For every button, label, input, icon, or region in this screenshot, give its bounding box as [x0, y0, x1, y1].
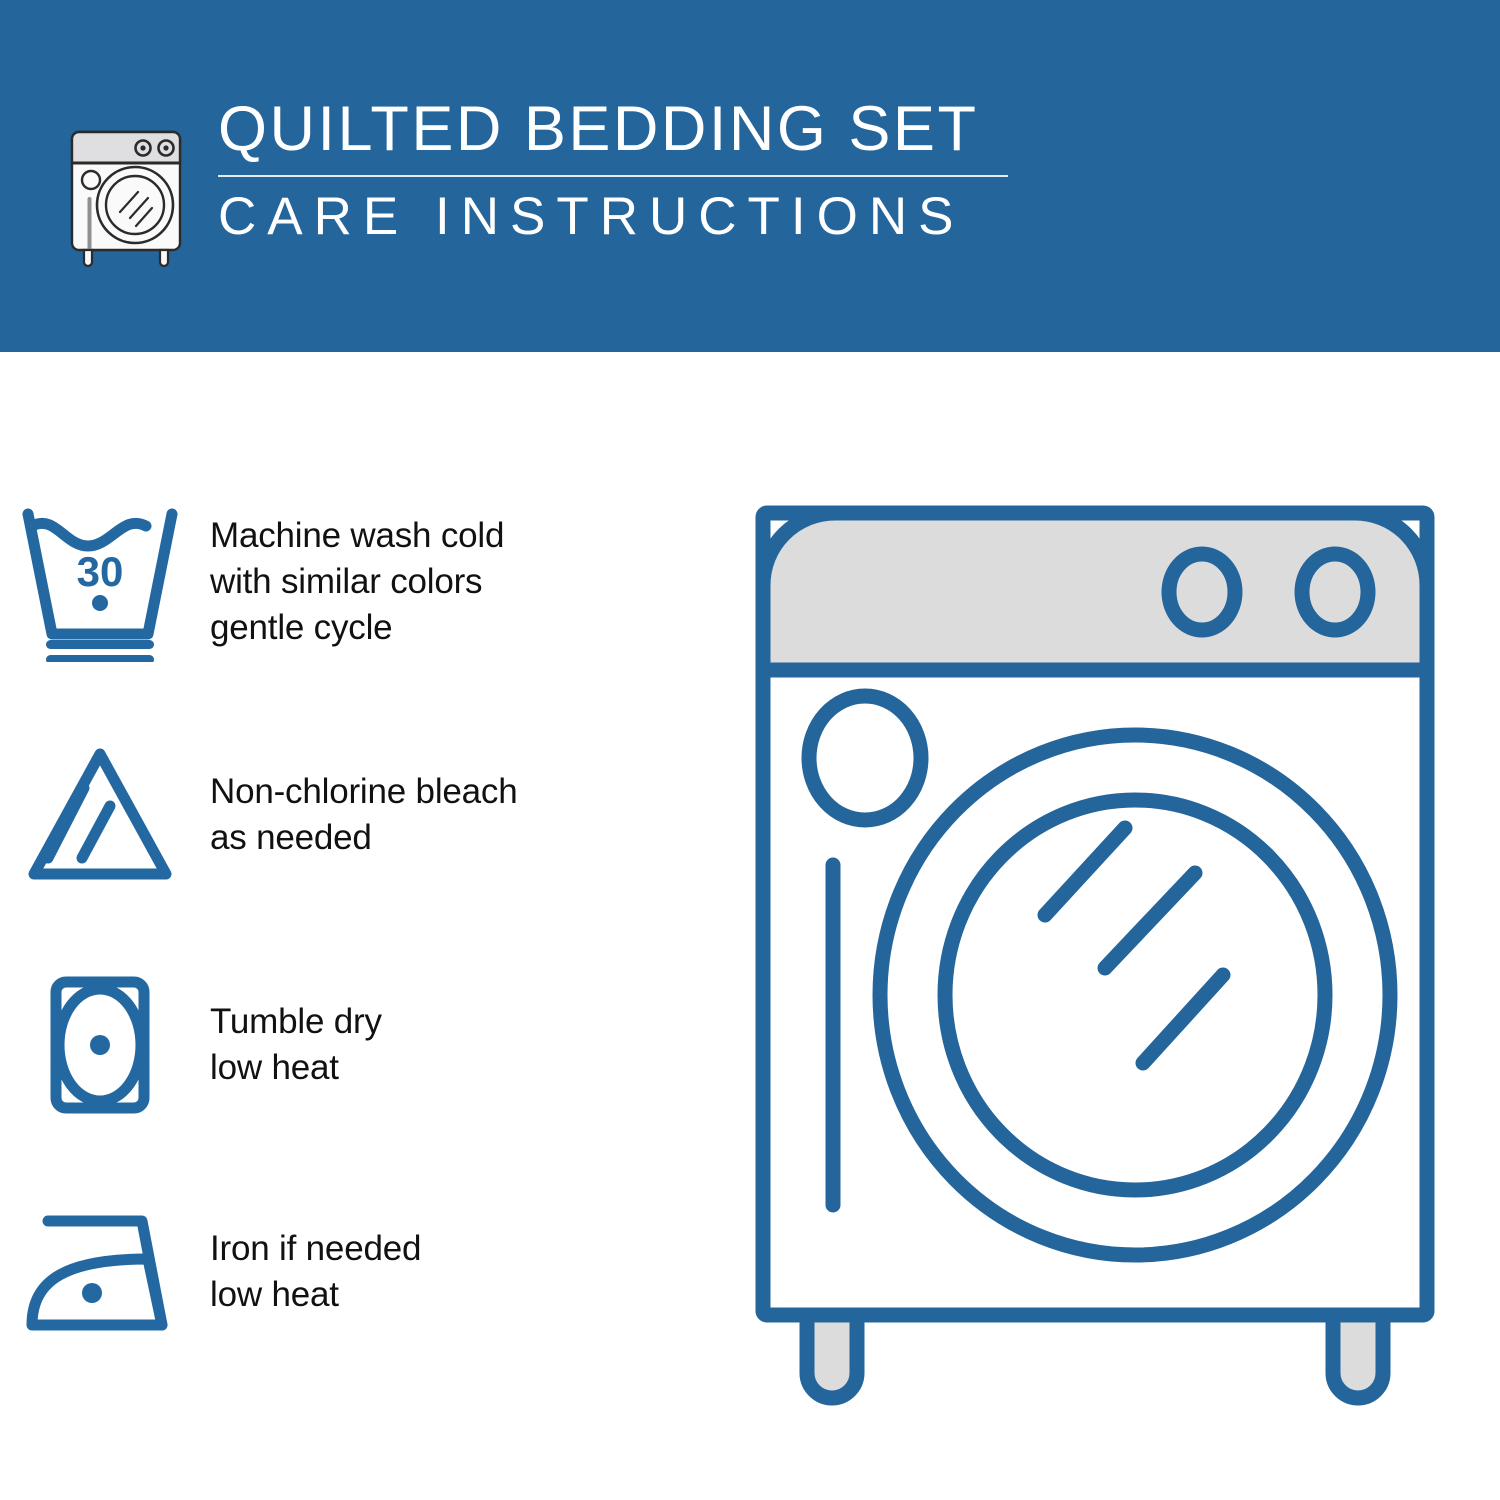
care-text-machine-wash: Machine wash cold with similar colors ge… — [200, 513, 504, 652]
care-text-tumble-dry: Tumble dry low heat — [200, 999, 382, 1091]
title-divider — [218, 175, 1008, 177]
care-row-bleach: Non-chlorine bleach as needed — [0, 740, 720, 890]
care-instructions-page: QUILTED BEDDING SET CARE INSTRUCTIONS 30 — [0, 0, 1500, 1500]
page-subtitle: CARE INSTRUCTIONS — [218, 189, 1018, 245]
care-row-iron: Iron if needed low heat — [0, 1197, 720, 1347]
care-text-iron: Iron if needed low heat — [200, 1226, 421, 1318]
care-row-machine-wash: 30 Machine wash cold with similar colors… — [0, 502, 720, 662]
washing-machine-illustration — [745, 495, 1445, 1415]
iron-low-heat-icon — [0, 1197, 200, 1347]
triangle-non-chlorine-bleach-icon — [0, 740, 200, 890]
care-text-bleach: Non-chlorine bleach as needed — [200, 769, 518, 861]
page-title: QUILTED BEDDING SET — [218, 96, 1018, 162]
care-instruction-list: 30 Machine wash cold with similar colors… — [0, 352, 720, 1500]
header-text-block: QUILTED BEDDING SET CARE INSTRUCTIONS — [218, 96, 1018, 245]
tumble-dry-low-heat-icon — [0, 970, 200, 1120]
washing-machine-icon — [62, 104, 190, 269]
svg-text:30: 30 — [77, 548, 124, 595]
care-row-tumble-dry: Tumble dry low heat — [0, 970, 720, 1120]
wash-tub-30-gentle-icon: 30 — [0, 502, 200, 662]
header-banner: QUILTED BEDDING SET CARE INSTRUCTIONS — [0, 0, 1500, 352]
